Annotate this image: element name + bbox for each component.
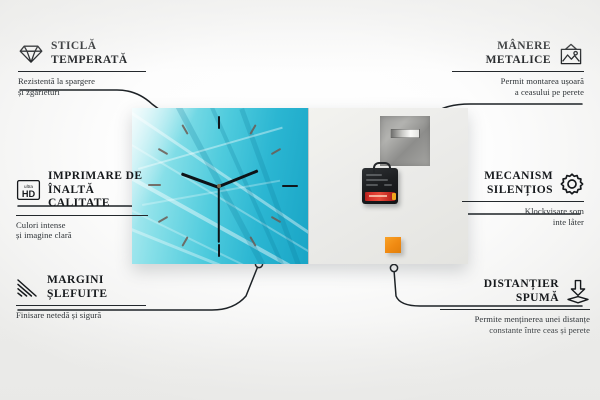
callout-title-line1: MÂNERE <box>486 40 551 54</box>
diamond-icon <box>18 44 44 64</box>
callout-title-line1: IMPRIMARE DE <box>48 170 148 184</box>
callout-title-line2: ÎNALTĂ CALITATE <box>48 184 148 211</box>
callout-title-line2: ȘLEFUITE <box>47 288 107 302</box>
callout-subtitle-line1: Rezistentă la spargere <box>18 76 146 87</box>
svg-text:HD: HD <box>22 189 36 199</box>
callout-subtitle-line1: Culori intense <box>16 220 148 231</box>
second-hand <box>218 187 220 242</box>
product-photo <box>132 108 468 264</box>
callout-subtitle-line2: și imagine clară <box>16 230 148 241</box>
callout-rule <box>452 71 584 72</box>
hanger-loop <box>373 162 391 173</box>
callout-subtitle-line1: Klockvisare som <box>462 206 584 217</box>
callout-subtitle-line1: Permit montarea ușoară <box>452 76 584 87</box>
feature-callout-tempered-glass: STICLĂ TEMPERATĂ Rezistentă la spargere … <box>18 40 146 98</box>
callout-title-line1: MARGINI <box>47 274 107 288</box>
ultra-hd-icon: ultra HD <box>16 179 41 201</box>
metal-hanger <box>380 116 430 166</box>
polished-edges-icon <box>16 277 40 298</box>
callout-title-line1: STICLĂ <box>51 40 128 54</box>
callout-subtitle-line1: Permite menținerea unei distanțe <box>440 314 590 325</box>
callout-subtitle-line2: inte låter <box>462 217 584 228</box>
callout-subtitle-line2: constante între ceas și perete <box>440 325 590 336</box>
foam-spacer-icon <box>566 279 590 305</box>
callout-rule <box>16 215 148 216</box>
callout-title-line2: METALICE <box>486 54 551 68</box>
callout-rule <box>18 71 146 72</box>
callout-subtitle-line2: și zgârieturi <box>18 87 146 98</box>
hands-pin <box>217 184 221 188</box>
feature-callout-silent-mechanism: MECANISM SILENȚIOS Klockvisare som inte … <box>462 170 584 228</box>
callout-title-line2: TEMPERATĂ <box>51 54 128 68</box>
callout-title-line1: DISTANȚIER <box>484 278 559 292</box>
foam-spacer <box>385 237 401 253</box>
feature-callout-hd-print: ultra HD IMPRIMARE DE ÎNALTĂ CALITATE Cu… <box>16 170 148 241</box>
clock-back-panel <box>308 108 468 264</box>
callout-rule <box>462 201 584 202</box>
callout-subtitle-line1: Finisare netedă și sigură <box>16 310 146 321</box>
feature-callout-polished-edges: MARGINI ȘLEFUITE Finisare netedă și sigu… <box>16 274 146 321</box>
gear-icon <box>560 172 584 196</box>
picture-hanger-icon <box>558 43 584 65</box>
quartz-movement <box>362 168 398 204</box>
callout-title-line2: SPUMĂ <box>484 292 559 306</box>
feature-callout-metal-handles: MÂNERE METALICE Permit montarea ușoară a… <box>452 40 584 98</box>
aa-battery <box>365 192 395 201</box>
callout-title-line1: MECANISM <box>484 170 553 184</box>
glass-clock-face <box>132 108 308 264</box>
infographic-canvas: STICLĂ TEMPERATĂ Rezistentă la spargere … <box>0 0 600 400</box>
feature-callout-foam-spacer: DISTANȚIER SPUMĂ Permite menținerea unei… <box>440 278 590 336</box>
callout-rule <box>16 305 146 306</box>
callout-rule <box>440 309 590 310</box>
callout-title-line2: SILENȚIOS <box>484 184 553 198</box>
callout-subtitle-line2: a ceasului pe perete <box>452 87 584 98</box>
